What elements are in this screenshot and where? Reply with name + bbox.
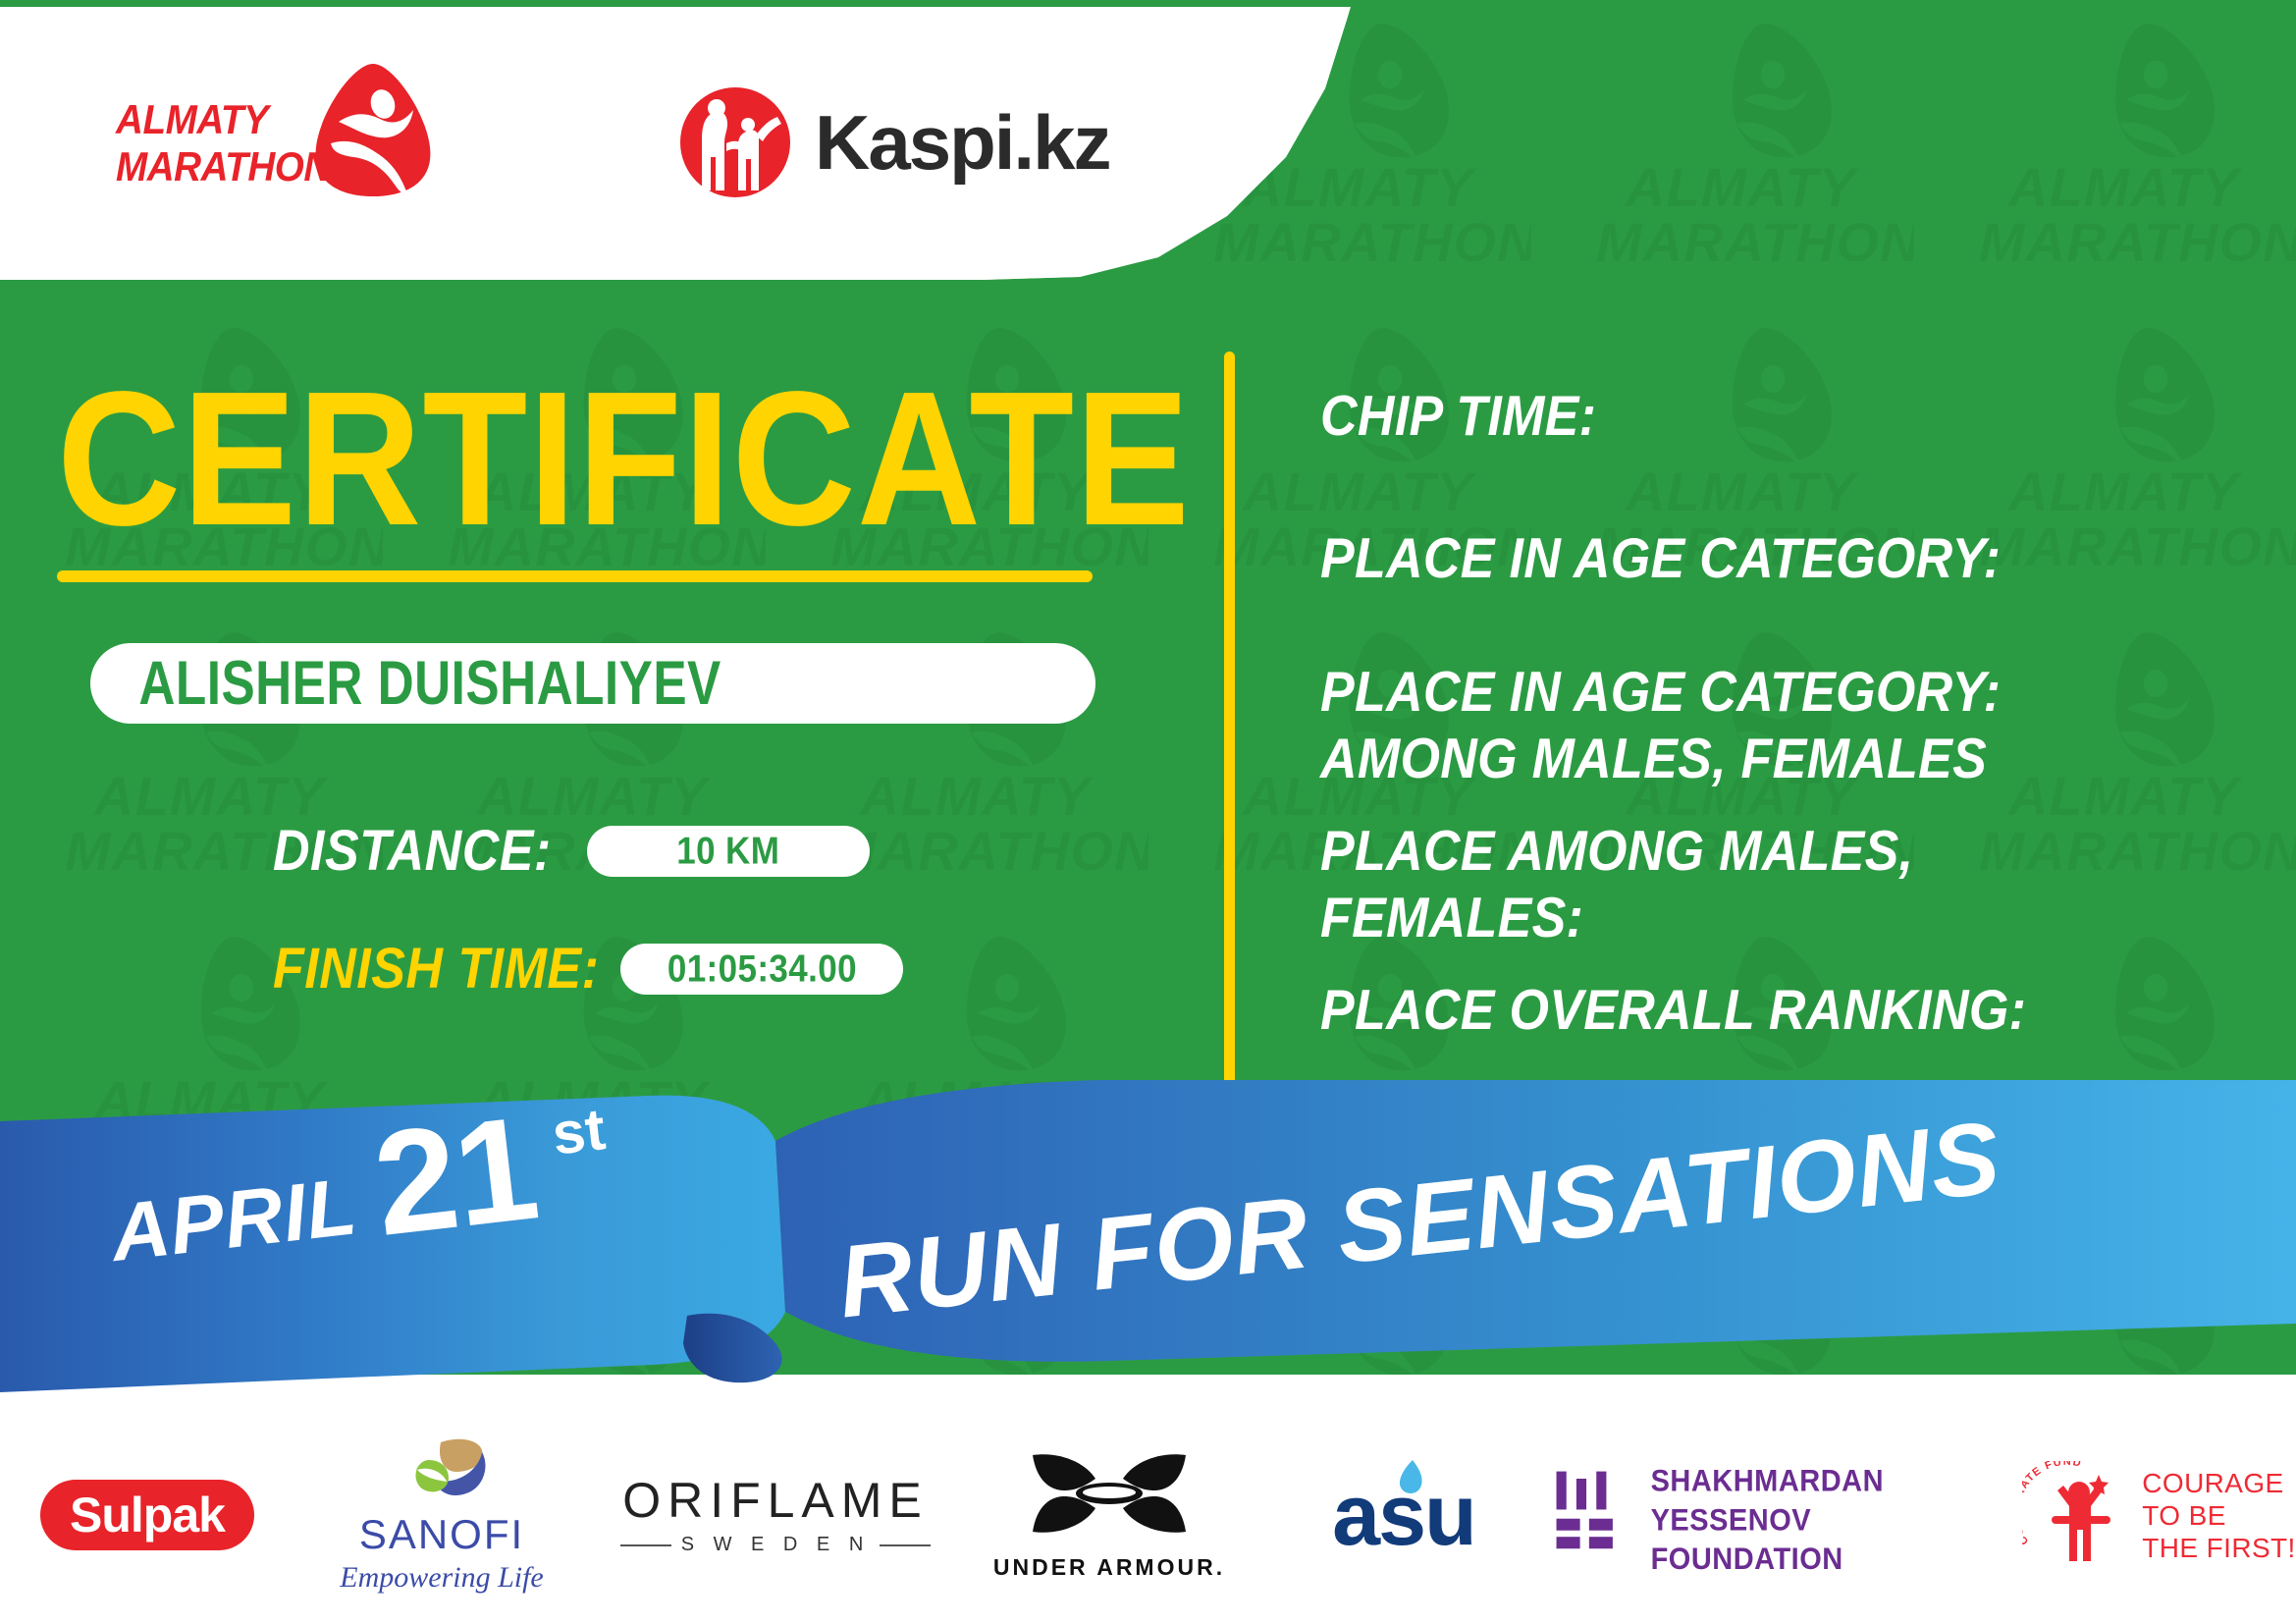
yessenov-bars-icon	[1551, 1466, 1629, 1564]
kaspi-wordmark: Kaspi.kz	[815, 98, 1109, 188]
result-row: PLACE IN AGE CATEGORY: 1665	[1320, 525, 2296, 586]
result-row: PLACE AMONG MALES, FEMALES: 1434	[1320, 818, 2296, 940]
courage-line3: THE FIRST!	[2142, 1532, 2295, 1564]
sponsor-logo-asu: asu	[1256, 1436, 1551, 1594]
sponsor-bar: Sulpak SANOFI Empowering Life ORIFLAME	[0, 1406, 2296, 1624]
oriflame-rule-right	[880, 1544, 931, 1546]
sponsor-logo-oriflame: ORIFLAME S W E D E N	[589, 1436, 962, 1594]
distance-row: DISTANCE: 10 KM	[273, 822, 870, 881]
sponsor-logo-yessenov: SHAKHMARDAN YESSENOV FOUNDATION	[1551, 1436, 2022, 1594]
participant-name: ALISHER DUISHALIYEV	[90, 648, 721, 719]
courage-line1: COURAGE	[2142, 1467, 2295, 1499]
sponsor-logo-sanofi: SANOFI Empowering Life	[294, 1436, 589, 1594]
event-ribbon: APRIL 21 st RUN FOR SENSATIONS	[0, 1080, 2296, 1404]
distance-label: DISTANCE:	[273, 818, 552, 884]
result-row: CHIP TIME: 01:04:11.00	[1320, 383, 2296, 444]
sulpak-badge: Sulpak	[40, 1480, 254, 1550]
courage-line2: TO BE	[2142, 1499, 2295, 1532]
participant-name-field: ALISHER DUISHALIYEV	[90, 643, 1095, 724]
courage-to-be-first-icon: CORPORATE FUND	[2022, 1461, 2128, 1569]
sanofi-bird-icon	[388, 1436, 496, 1507]
finish-time-value: 01:05:34.00	[667, 947, 857, 992]
vertical-divider	[1224, 352, 1235, 1108]
event-day-ordinal: st	[549, 1095, 609, 1168]
result-row: PLACE IN AGE CATEGORY: AMONG MALES, FEMA…	[1320, 659, 2296, 781]
under-armour-icon	[1021, 1449, 1198, 1543]
event-day: 21	[367, 1094, 543, 1258]
title-underline	[57, 570, 1093, 582]
finish-time-value-pill: 01:05:34.00	[620, 944, 903, 995]
result-label: CHIP TIME:	[1320, 383, 1596, 450]
almaty-marathon-logo: ALMATY MARATHON	[116, 61, 430, 198]
result-label: PLACE IN AGE CATEGORY: AMONG MALES, FEMA…	[1320, 659, 2001, 792]
page-title: CERTIFICATE	[57, 363, 1191, 555]
finish-time-label: FINISH TIME:	[273, 936, 599, 1001]
finish-time-row: FINISH TIME: 01:05:34.00	[273, 940, 903, 999]
oriflame-wordmark: ORIFLAME	[620, 1474, 932, 1527]
result-label: PLACE IN AGE CATEGORY:	[1320, 525, 2001, 592]
runner-drop-icon	[312, 61, 435, 198]
kaspi-logo: Kaspi.kz	[677, 84, 1109, 200]
yessenov-wordmark-line2: FOUNDATION	[1651, 1540, 2022, 1579]
sanofi-tagline: Empowering Life	[340, 1561, 544, 1595]
under-armour-wordmark: UNDER ARMOUR.	[993, 1554, 1225, 1581]
sanofi-wordmark: SANOFI	[340, 1512, 544, 1557]
sulpak-wordmark: Sulpak	[70, 1487, 225, 1543]
distance-value: 10 KM	[676, 830, 779, 874]
oriflame-tagline: S W E D E N	[681, 1534, 871, 1556]
sponsor-logo-under-armour: UNDER ARMOUR.	[962, 1436, 1256, 1594]
header-bar: ALMATY MARATHON Kaspi.kz	[0, 0, 1217, 280]
asu-drop-icon	[1393, 1458, 1426, 1505]
sponsor-logo-corporate-fund: CORPORATE FUND COURAGE TO BE THE FIRST!	[2022, 1436, 2296, 1594]
event-month: APRIL	[106, 1161, 361, 1280]
distance-value-pill: 10 KM	[587, 826, 870, 877]
yessenov-wordmark-line1: SHAKHMARDAN YESSENOV	[1651, 1462, 2022, 1540]
result-row: PLACE OVERALL RANKING: 1821	[1320, 977, 2296, 1038]
certificate-canvas: ALMATY MARATHON ALMATY MARATHON	[0, 0, 2296, 1624]
result-label: PLACE AMONG MALES, FEMALES:	[1320, 818, 1913, 951]
result-label: PLACE OVERALL RANKING:	[1320, 977, 2026, 1044]
sponsor-logo-sulpak: Sulpak	[0, 1436, 294, 1594]
oriflame-rule-left	[620, 1544, 671, 1546]
kaspi-family-icon	[677, 84, 793, 200]
